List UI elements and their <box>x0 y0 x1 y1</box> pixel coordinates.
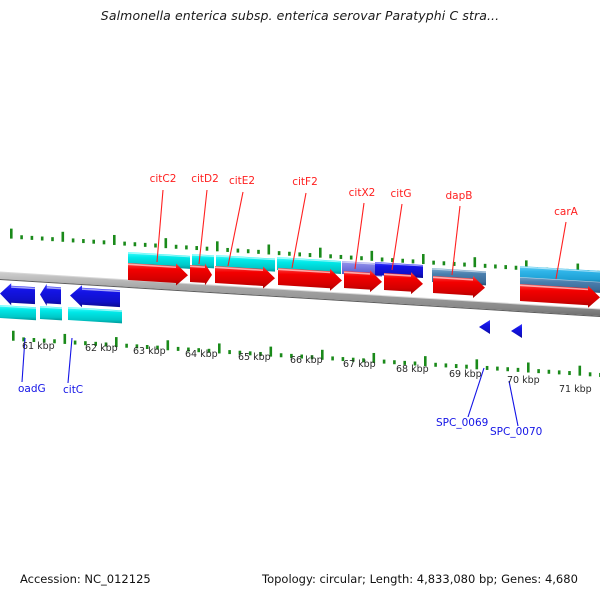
dapB-leader <box>452 206 460 275</box>
tick-minor <box>154 244 157 248</box>
bottom-gene-labels[interactable]: oadGcitCSPC_0069SPC_0070 <box>18 383 542 438</box>
tick-major <box>579 366 582 376</box>
tick-minor <box>247 249 250 253</box>
ruler-label: 71 kbp <box>559 384 592 395</box>
tick-minor <box>195 246 198 250</box>
tick-minor <box>237 249 240 253</box>
tick-minor <box>360 256 363 260</box>
tick-minor <box>92 240 95 244</box>
tick-minor <box>381 257 384 261</box>
tick-minor <box>350 256 353 260</box>
SPC_0069-marker[interactable] <box>479 320 490 334</box>
genome-viewer: Salmonella enterica subsp. enterica sero… <box>0 0 600 600</box>
ruler-label: 66 kbp <box>290 355 323 366</box>
ruler-label: 62 kbp <box>85 343 118 354</box>
genome-track-canvas[interactable]: citC2citD2citE2citF2citX2citGdapBcarA oa… <box>0 0 600 600</box>
tick-minor <box>432 261 435 265</box>
tick-major <box>476 359 479 369</box>
tick-minor <box>257 250 260 254</box>
tick-minor <box>103 240 106 244</box>
ruler-tick-labels: 61 kbp62 kbp63 kbp64 kbp65 kbp66 kbp67 k… <box>22 341 592 395</box>
tick-major <box>474 257 477 267</box>
small-gene-markers[interactable] <box>479 320 522 338</box>
tick-major <box>268 244 271 254</box>
tick-minor <box>558 370 561 374</box>
oadG-cds[interactable] <box>0 283 35 305</box>
ruler-label: 67 kbp <box>343 359 376 370</box>
tick-minor <box>177 347 180 351</box>
citD2-label[interactable]: citD2 <box>191 173 219 185</box>
tick-minor <box>278 251 281 255</box>
tick-minor <box>31 236 34 240</box>
ruler-label: 69 kbp <box>449 369 482 380</box>
tick-major <box>64 334 67 344</box>
citC2-label[interactable]: citC2 <box>150 173 177 185</box>
tick-major <box>371 251 374 261</box>
oadG-label[interactable]: oadG <box>18 383 46 395</box>
citD2-cds-highlight <box>190 266 205 267</box>
tick-minor <box>175 245 178 249</box>
accession-status: Accession: NC_012125 <box>20 572 151 586</box>
tick-minor <box>412 259 415 263</box>
tick-major <box>216 241 219 251</box>
tick-minor <box>228 350 231 354</box>
tick-minor <box>41 237 44 241</box>
tick-major <box>319 248 322 258</box>
SPC_0070-leader <box>509 381 518 426</box>
tick-minor <box>74 341 77 345</box>
tick-major <box>218 343 221 353</box>
tick-minor <box>72 238 75 242</box>
tick-major <box>165 238 168 248</box>
tick-major <box>10 229 13 239</box>
tick-minor <box>496 367 499 371</box>
carA-label[interactable]: carA <box>554 206 579 218</box>
citF2-leader <box>292 193 306 268</box>
tick-minor <box>226 248 229 252</box>
genome-info-status: Topology: circular; Length: 4,833,080 bp… <box>262 572 578 586</box>
tick-minor <box>504 265 507 269</box>
citG-leader <box>392 204 402 270</box>
tick-minor <box>445 363 448 367</box>
tick-minor <box>206 247 209 251</box>
tick-minor <box>82 239 85 243</box>
tick-minor <box>20 235 23 239</box>
citC-label[interactable]: citC <box>63 384 83 396</box>
citD2-leader <box>199 190 207 264</box>
citC-leader <box>68 338 72 383</box>
tick-minor <box>484 264 487 268</box>
tick-minor <box>51 237 54 241</box>
tick-minor <box>329 254 332 258</box>
tick-minor <box>309 253 312 257</box>
citE2-label[interactable]: citE2 <box>229 175 255 187</box>
citE2-leader <box>228 192 243 266</box>
tick-minor <box>144 243 147 247</box>
tick-minor <box>434 363 437 367</box>
tick-minor <box>331 356 334 360</box>
tick-major <box>12 331 15 341</box>
tick-minor <box>486 366 489 370</box>
tick-minor <box>517 368 520 372</box>
tick-minor <box>288 252 291 256</box>
citF2-label[interactable]: citF2 <box>292 176 318 188</box>
tick-minor <box>125 344 128 348</box>
tick-minor <box>506 367 509 371</box>
tick-major <box>113 235 116 245</box>
tick-minor <box>515 266 518 270</box>
ruler-label: 68 kbp <box>396 364 429 375</box>
ruler-label: 65 kbp <box>238 352 271 363</box>
tick-major <box>167 340 170 350</box>
tick-major <box>62 232 65 242</box>
tick-minor <box>443 261 446 265</box>
tick-minor <box>463 263 466 267</box>
tick-minor <box>401 259 404 263</box>
ruler-label: 64 kbp <box>185 349 218 360</box>
tick-minor <box>383 360 386 364</box>
tick-minor <box>280 353 283 357</box>
citC-cds-highlight <box>47 288 61 289</box>
ruler-label: 61 kbp <box>22 341 55 352</box>
reverse-gene-arrows[interactable] <box>0 283 120 307</box>
tick-major <box>527 362 530 372</box>
tick-minor <box>134 242 137 246</box>
top-gene-labels[interactable]: citC2citD2citE2citF2citX2citGdapBcarA <box>150 173 579 218</box>
tick-major <box>422 254 425 264</box>
ruler-label: 70 kbp <box>507 375 540 386</box>
SPC_0069-label[interactable]: SPC_0069 <box>436 417 488 429</box>
tick-minor <box>548 370 551 374</box>
tick-minor <box>455 364 458 368</box>
tick-minor <box>123 242 126 246</box>
tick-minor <box>494 264 497 268</box>
dapB-label[interactable]: dapB <box>446 190 473 202</box>
tick-minor <box>185 245 188 249</box>
citC2-leader <box>157 190 163 262</box>
citX2-label[interactable]: citX2 <box>349 187 376 199</box>
tick-minor <box>340 255 343 259</box>
tick-minor <box>298 252 301 256</box>
tick-minor <box>537 369 540 373</box>
tick-minor <box>589 372 592 376</box>
ruler-label: 63 kbp <box>133 346 166 357</box>
SPC_0070-label[interactable]: SPC_0070 <box>490 426 542 438</box>
gene-left-long[interactable] <box>70 285 120 307</box>
tick-minor <box>568 371 571 375</box>
citG-label[interactable]: citG <box>391 188 412 200</box>
SPC_0070-marker[interactable] <box>511 324 522 338</box>
